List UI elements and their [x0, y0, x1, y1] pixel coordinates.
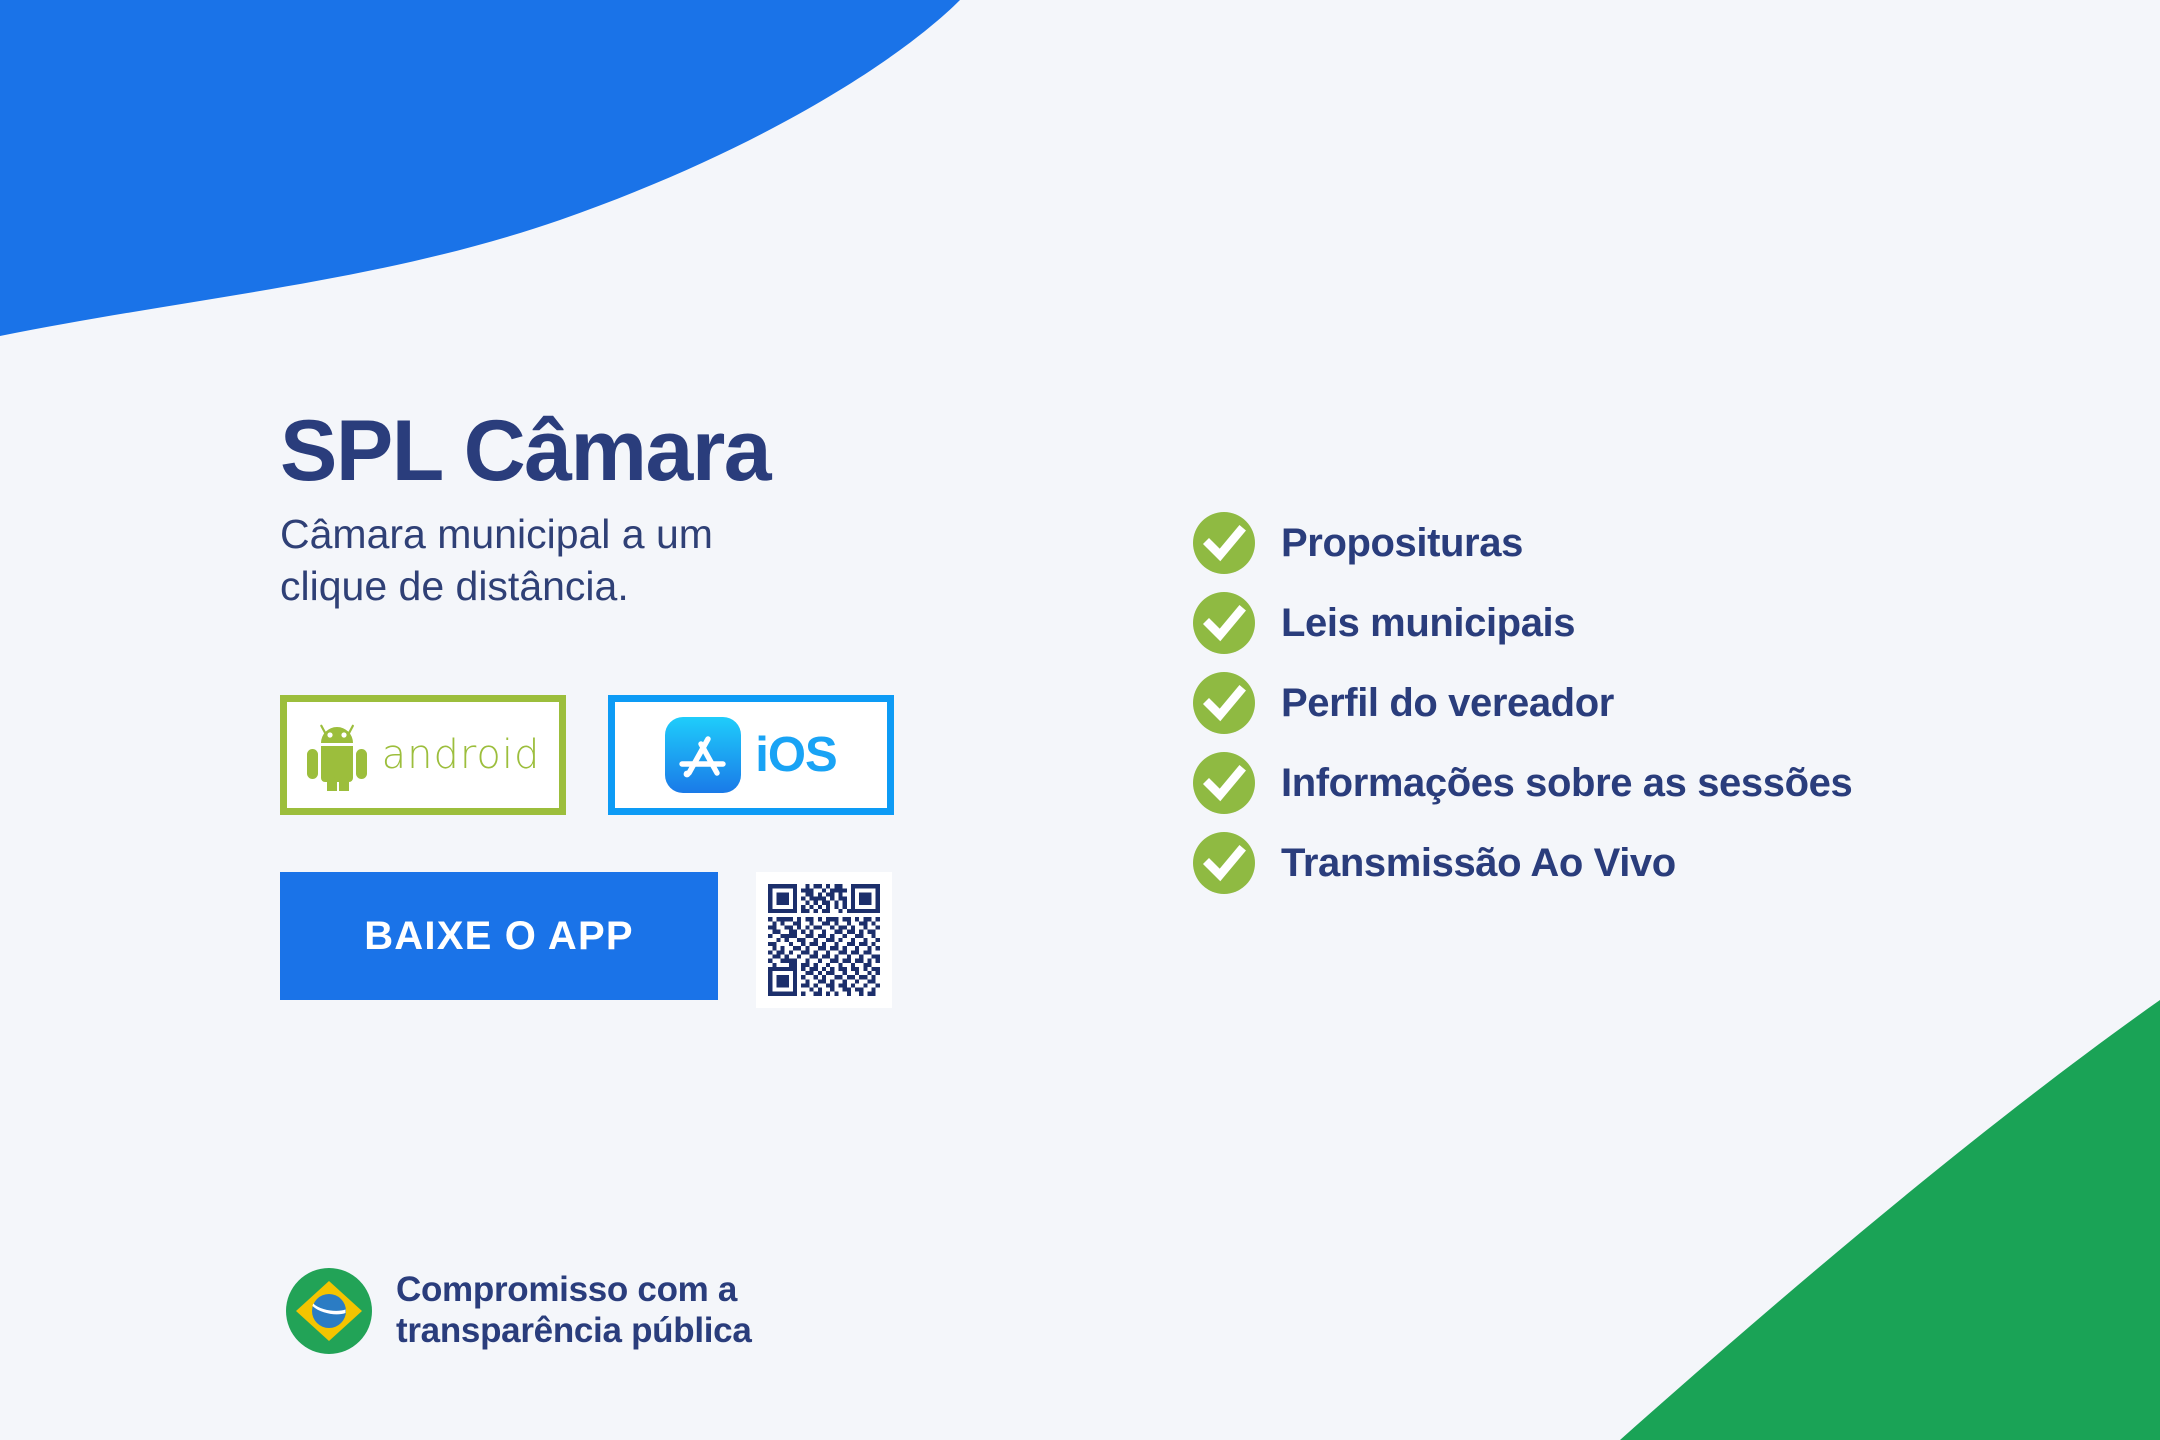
ios-badge-content: iOS	[665, 717, 836, 793]
download-app-button[interactable]: BAIXE O APP	[280, 872, 718, 1000]
feature-label: Informações sobre as sessões	[1281, 761, 1852, 806]
check-circle-icon	[1193, 752, 1255, 814]
brazil-flag-icon	[286, 1268, 372, 1354]
check-circle-icon	[1193, 672, 1255, 734]
promo-banner: SPL Câmara Câmara municipal a um clique …	[0, 0, 2160, 1440]
transparency-label: Compromisso com a transparência pública	[396, 1270, 752, 1351]
check-circle-icon	[1193, 512, 1255, 574]
transparency-badge: Compromisso com a transparência pública	[286, 1268, 752, 1354]
feature-label: Transmissão Ao Vivo	[1281, 841, 1676, 886]
list-item: Perfil do vereador	[1193, 672, 1852, 734]
page-subtitle: Câmara municipal a um clique de distânci…	[280, 508, 820, 613]
check-circle-icon	[1193, 832, 1255, 894]
ios-store-badge[interactable]: iOS	[608, 695, 894, 815]
ios-badge-label: iOS	[755, 727, 836, 783]
android-badge-content: android	[306, 719, 541, 791]
app-store-icon	[665, 717, 741, 793]
qr-code-graphic	[764, 880, 884, 1000]
list-item: Informações sobre as sessões	[1193, 752, 1852, 814]
feature-label: Proposituras	[1281, 521, 1523, 566]
feature-label: Leis municipais	[1281, 601, 1575, 646]
list-item: Leis municipais	[1193, 592, 1852, 654]
brand-block: SPL Câmara Câmara municipal a um clique …	[280, 408, 1040, 613]
feature-label: Perfil do vereador	[1281, 681, 1614, 726]
check-circle-icon	[1193, 592, 1255, 654]
list-item: Proposituras	[1193, 512, 1852, 574]
android-store-badge[interactable]: android	[280, 695, 566, 815]
android-robot-icon	[306, 719, 368, 791]
page-title: SPL Câmara	[280, 408, 1040, 494]
blue-wave-shape	[0, 0, 960, 336]
qr-code-icon[interactable]	[756, 872, 892, 1008]
list-item: Transmissão Ao Vivo	[1193, 832, 1852, 894]
download-row: BAIXE O APP	[280, 872, 892, 1008]
feature-list: Proposituras Leis municipais Perfil do v…	[1193, 512, 1852, 894]
store-badge-group: android	[280, 695, 894, 815]
green-wave-shape	[1620, 1000, 2160, 1440]
android-badge-label: android	[382, 732, 541, 778]
